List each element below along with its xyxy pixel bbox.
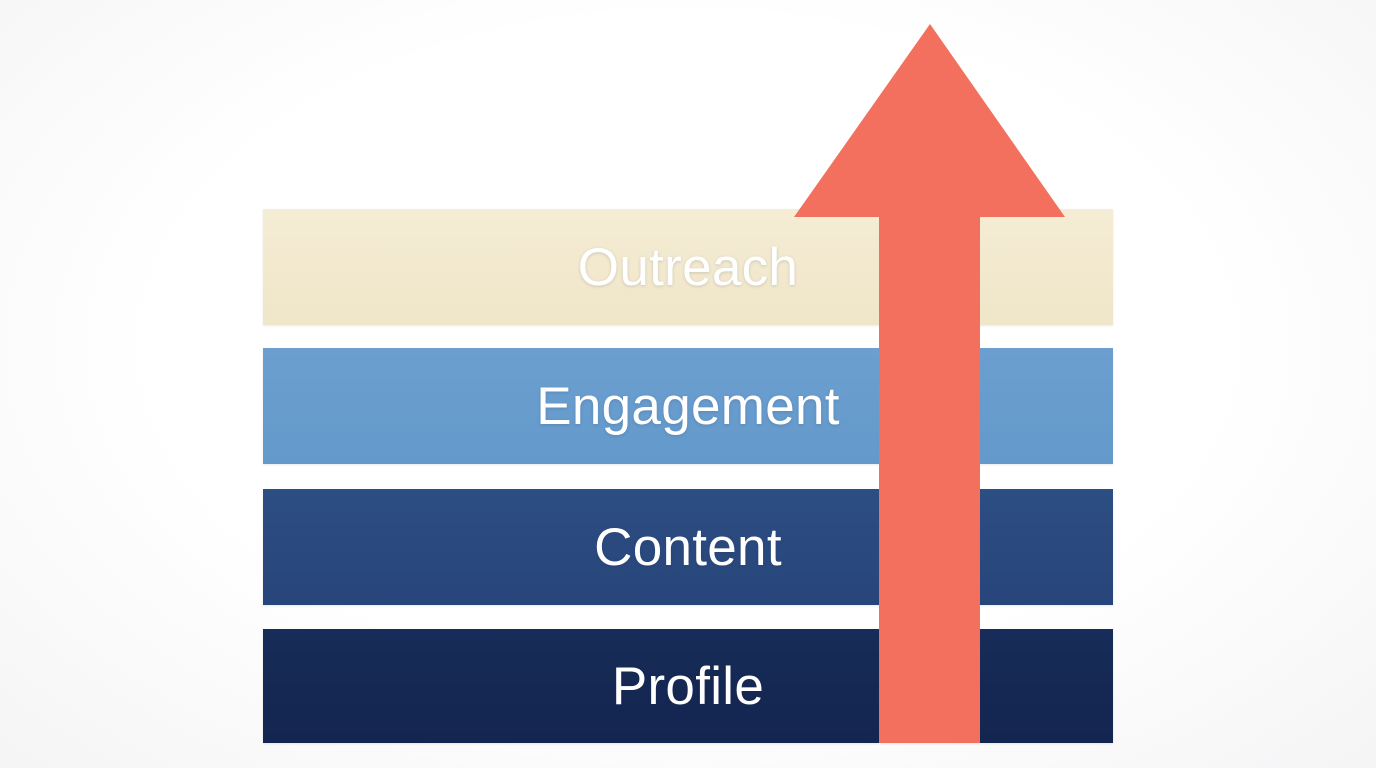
layer-bar-engagement[interactable]: Engagement bbox=[263, 348, 1113, 464]
layer-bar-outreach[interactable]: Outreach bbox=[263, 209, 1113, 325]
layer-label-profile: Profile bbox=[612, 660, 764, 713]
layer-label-outreach: Outreach bbox=[578, 241, 798, 294]
layer-stack: Profile Content Engagement Outreach bbox=[0, 0, 1376, 768]
layer-label-engagement: Engagement bbox=[536, 380, 840, 433]
diagram-canvas: Profile Content Engagement Outreach bbox=[0, 0, 1376, 768]
layer-bar-profile[interactable]: Profile bbox=[263, 629, 1113, 743]
layer-bar-content[interactable]: Content bbox=[263, 489, 1113, 605]
layer-label-content: Content bbox=[594, 521, 782, 574]
